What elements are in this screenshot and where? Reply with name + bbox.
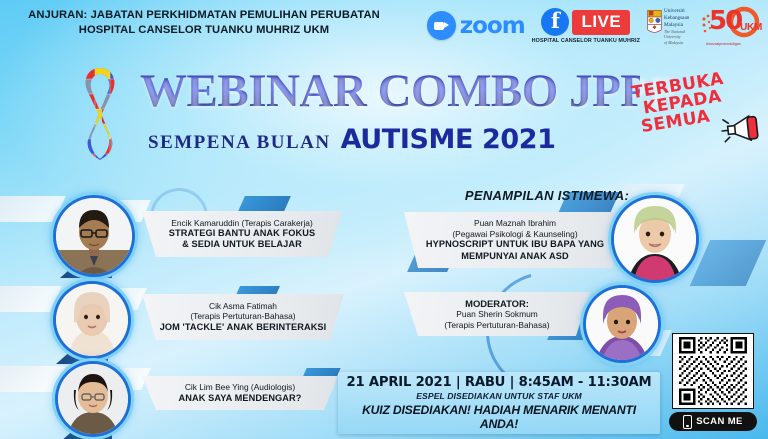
title-autisme: AUTISME 2021 — [341, 124, 556, 155]
zoom-logo: zoom — [427, 11, 525, 40]
speaker-1-topic-line-1: STRATEGI BANTU ANAK FOKUS — [148, 228, 336, 239]
megaphone-icon — [718, 110, 763, 148]
special-name: Puan Maznah Ibrahim — [410, 218, 620, 229]
crest-line-2: Kebangsaan — [664, 15, 693, 22]
avatar-speaker-3 — [58, 364, 128, 434]
zoom-wordmark: zoom — [460, 13, 525, 39]
title-subrow: SEMPENA BULAN AUTISME 2021 — [148, 124, 648, 155]
facebook-icon: f — [541, 8, 569, 36]
label-moderator: MODERATOR: Puan Sherin Sokmum (Terapis P… — [404, 292, 590, 336]
event-details-panel: 21 APRIL 2021 | RABU | 8:45AM - 11:30AM … — [338, 372, 660, 434]
zoom-camera-icon — [427, 11, 456, 40]
anniversary-hashtag: #inovasipromosidigan — [706, 42, 741, 46]
phone-icon — [683, 415, 692, 429]
avatar-speaker-2 — [56, 284, 128, 356]
espel-note: ESPEL DISEDIAKAN UNTUK STAF UKM — [416, 391, 582, 401]
deco-shape — [0, 196, 66, 222]
special-speaker-photo — [614, 198, 696, 280]
crest-shield-icon — [647, 5, 662, 41]
organizer-line-1: ANJURAN: JABATAN PERKHIDMATAN PEMULIHAN … — [14, 8, 394, 23]
facebook-caption: HOSPITAL CANSELOR TUANKU MUHRIZ — [532, 38, 640, 44]
organizer-header: ANJURAN: JABATAN PERKHIDMATAN PEMULIHAN … — [14, 8, 394, 38]
special-role: (Pegawai Psikologi & Kaunseling) — [410, 229, 620, 240]
speaker-2-topic-line-1: JOM 'TACKLE' ANAK BERINTERAKSI — [148, 322, 338, 333]
moderator-role: (Terapis Pertuturan-Bahasa) — [410, 320, 584, 331]
crest-text: Universiti Kebangsaan Malaysia The Natio… — [664, 8, 693, 49]
anniversary-logo: 50 UKM #inovasipromosidigan — [700, 5, 764, 47]
page-title: WEBINAR COMBO JPPP — [140, 68, 640, 115]
label-speaker-3: Cik Lim Bee Ying (Audiologis) ANAK SAYA … — [142, 376, 338, 410]
deco-shape — [690, 240, 766, 286]
qr-code-block[interactable]: SCAN ME — [664, 333, 762, 433]
avatar-special-speaker — [614, 198, 696, 280]
label-special-speaker: Puan Maznah Ibrahim (Pegawai Psikologi &… — [404, 212, 626, 268]
ukm-crest-logo: Universiti Kebangsaan Malaysia The Natio… — [647, 5, 693, 49]
speaker-2-name: Cik Asma Fatimah — [148, 301, 338, 312]
event-date-time: 21 APRIL 2021 | RABU | 8:45AM - 11:30AM — [347, 375, 652, 390]
organizer-line-2: HOSPITAL CANSELOR TUANKU MUHRIZ UKM — [14, 23, 394, 38]
scan-me-label: SCAN ME — [696, 416, 743, 427]
webinar-poster: ANJURAN: JABATAN PERKHIDMATAN PEMULIHAN … — [0, 0, 768, 439]
speaker-2-photo — [56, 284, 128, 356]
special-topic-line-1: HYPNOSCRIPT UNTUK IBU BAPA YANG — [410, 239, 620, 250]
crest-line-1: Universiti — [664, 8, 693, 15]
moderator-photo — [586, 288, 658, 360]
speaker-1-photo — [56, 198, 132, 274]
speaker-3-photo — [58, 364, 128, 434]
quiz-note: KUIZ DISEDIAKAN! HADIAH MENARIK MENANTI … — [344, 403, 654, 431]
speaker-2-role: (Terapis Pertuturan-Bahasa) — [148, 311, 338, 322]
avatar-moderator — [586, 288, 658, 360]
crest-tagline-1: The National University — [664, 29, 693, 40]
special-heading: PENAMPILAN ISTIMEWA: — [432, 188, 662, 203]
anniversary-number: 50 — [709, 6, 741, 36]
open-to-all-badge: TERBUKA KEPADA SEMUA — [630, 71, 727, 136]
speaker-3-topic-line-1: ANAK SAYA MENDENGAR? — [148, 393, 332, 404]
anniversary-brand: UKM — [740, 22, 762, 33]
deco-shape — [0, 286, 62, 312]
speaker-1-name: Encik Kamaruddin (Terapis Carakerja) — [148, 218, 336, 229]
crest-line-3: Malaysia — [664, 22, 693, 29]
live-badge: LIVE — [572, 10, 630, 35]
moderator-heading: MODERATOR: — [410, 298, 584, 310]
avatar-speaker-1 — [56, 198, 132, 274]
label-speaker-2: Cik Asma Fatimah (Terapis Pertuturan-Bah… — [142, 294, 344, 340]
deco-shape — [0, 366, 66, 392]
speaker-1-topic-line-2: & SEDIA UNTUK BELAJAR — [148, 239, 336, 250]
title-sempena: SEMPENA BULAN — [148, 132, 331, 154]
qr-code-image[interactable] — [672, 333, 754, 409]
label-speaker-1: Encik Kamaruddin (Terapis Carakerja) STR… — [142, 211, 342, 257]
logo-strip: zoom f LIVE HOSPITAL CANSELOR TUANKU MUH… — [427, 2, 764, 52]
facebook-live-logo: f LIVE HOSPITAL CANSELOR TUANKU MUHRIZ — [532, 8, 640, 44]
scan-me-badge[interactable]: SCAN ME — [669, 412, 757, 431]
qr-code-svg — [676, 337, 750, 405]
autism-puzzle-ribbon-icon — [62, 62, 138, 170]
crest-tagline-2: of Malaysia — [664, 40, 693, 45]
special-topic-line-2: MEMPUNYAI ANAK ASD — [410, 251, 620, 262]
moderator-name: Puan Sherin Sokmum — [410, 309, 584, 320]
speaker-3-name: Cik Lim Bee Ying (Audiologis) — [148, 382, 332, 393]
